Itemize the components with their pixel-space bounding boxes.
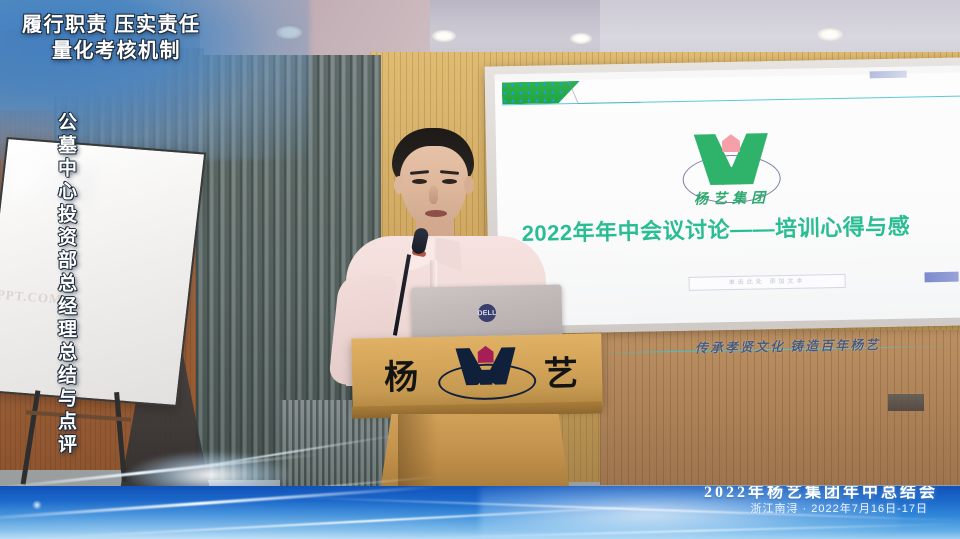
- headline-line-1: 履行职责 压实责任: [22, 12, 282, 38]
- speaker-nose: [429, 186, 438, 204]
- slide-text-placeholder: 单击此处 添加文本: [689, 274, 846, 291]
- banner-light-streak: [0, 486, 440, 522]
- logo-mark: 杨艺集团: [496, 124, 960, 211]
- podium-character-left: 杨: [384, 349, 419, 399]
- slide-title: 2022年年中会议讨论——培训心得与感: [521, 207, 960, 248]
- banner-subtitle: 浙江南浔 · 2022年7月16日-17日: [751, 500, 929, 516]
- podium-logo: [429, 341, 540, 401]
- vertical-caption-overlay: 公墓中心投资部总经理总结与点评: [52, 112, 79, 457]
- slide-toolbar-icons: [925, 272, 959, 283]
- slide-corner-tab: [870, 71, 907, 79]
- speaker-eye-right: [442, 179, 457, 184]
- podium-character-right: 艺: [543, 346, 578, 396]
- laptop: DELL: [411, 284, 562, 339]
- headline-overlay: 履行职责 压实责任 量化考核机制: [22, 12, 282, 65]
- ceiling-downlight: [570, 33, 592, 44]
- calligraphy-text: 传承孝贤文化 铸造百年杨艺: [695, 334, 881, 357]
- ceiling-downlight: [817, 28, 843, 41]
- headline-line-2: 量化考核机制: [52, 38, 282, 64]
- speaker-ear-left: [394, 176, 404, 194]
- dell-logo-icon: DELL: [478, 304, 496, 322]
- slide-company-logo: 杨艺集团: [496, 124, 960, 211]
- speaker-ear-right: [464, 176, 474, 194]
- slide-diagonal-line: [568, 80, 641, 104]
- projection-screen: 杨艺集团 2022年年中会议讨论——培训心得与感 单击此处 添加文本: [495, 66, 960, 327]
- speaker-eye-left: [412, 179, 427, 184]
- bottom-banner: 2022年杨艺集团年中总结会 浙江南浔 · 2022年7月16日-17日: [0, 486, 960, 539]
- conference-photo-frame: 杨艺集团 2022年年中会议讨论——培训心得与感 单击此处 添加文本 传承孝贤文…: [0, 0, 960, 539]
- slide-horizontal-rule: [502, 96, 960, 106]
- banner-bokeh-dot: [32, 500, 42, 510]
- whiteboard: PPT.COM: [0, 137, 206, 407]
- podium-front-panel: 杨 艺: [351, 333, 602, 410]
- speaker-mouth: [425, 210, 447, 217]
- wall-plaque: [888, 394, 924, 411]
- ceiling-downlight: [432, 30, 456, 42]
- slide-green-decoration: [502, 81, 580, 104]
